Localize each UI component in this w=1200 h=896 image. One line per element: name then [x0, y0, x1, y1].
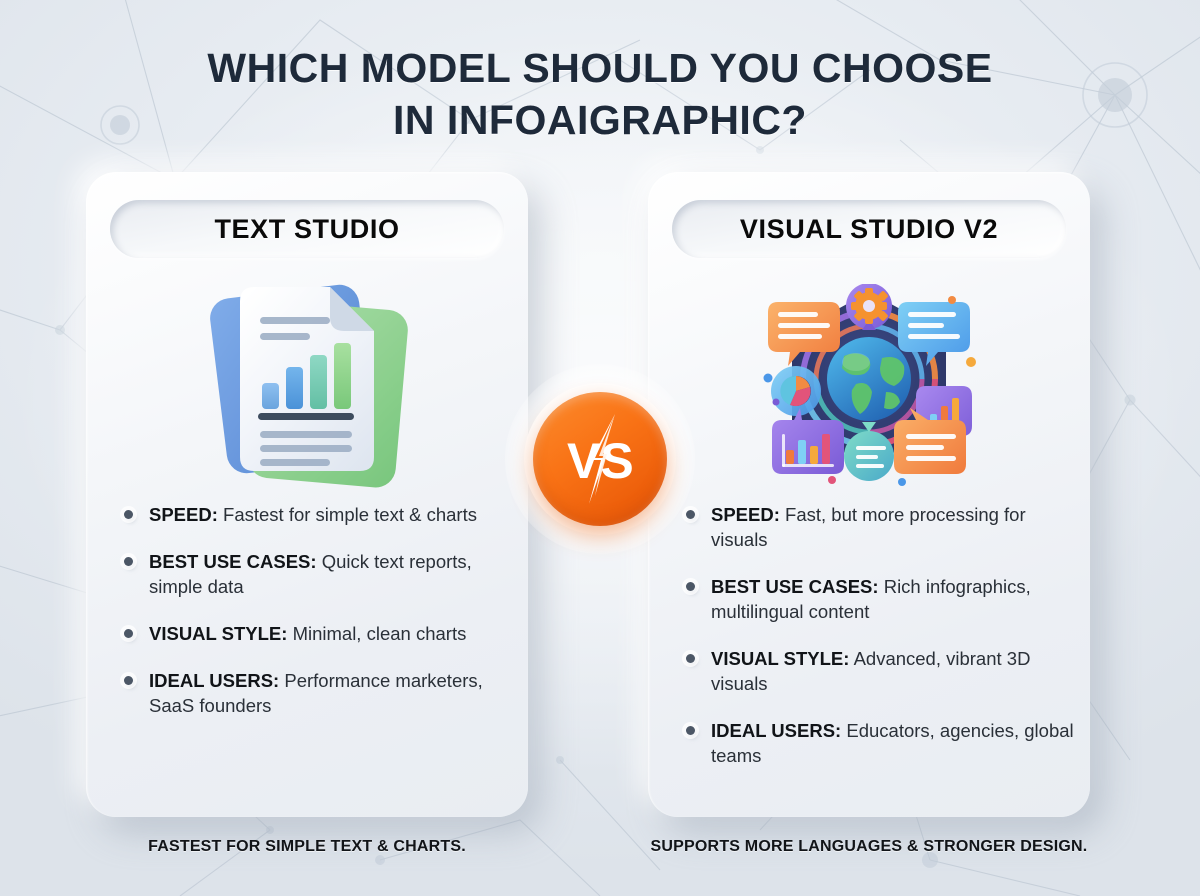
bullet-dot-icon	[124, 676, 133, 685]
document-bar-chart-icon	[86, 276, 528, 494]
bullet-text: Minimal, clean charts	[293, 623, 467, 644]
bullet-label: BEST USE CASES:	[711, 576, 879, 597]
card-header-text-studio: TEXT STUDIO	[110, 200, 504, 258]
bullet-dot-icon	[686, 654, 695, 663]
feature-list-text-studio: SPEED: Fastest for simple text & charts …	[122, 502, 512, 718]
infographic-page: WHICH MODEL SHOULD YOU CHOOSE IN INFOAIG…	[0, 0, 1200, 896]
bullet-dot-icon	[686, 510, 695, 519]
feature-list-visual-studio-v2: SPEED: Fast, but more processing for vis…	[684, 502, 1074, 768]
card-title-text-studio: TEXT STUDIO	[214, 214, 399, 245]
bullet-label: IDEAL USERS:	[711, 720, 841, 741]
bullet-label: SPEED:	[711, 504, 780, 525]
bullet-text: Fastest for simple text & charts	[223, 504, 477, 525]
list-item: VISUAL STYLE: Advanced, vibrant 3D visua…	[684, 646, 1074, 696]
list-item: VISUAL STYLE: Minimal, clean charts	[122, 621, 512, 646]
bullet-dot-icon	[124, 510, 133, 519]
bullet-dot-icon	[124, 557, 133, 566]
vs-lightning-icon: VS	[545, 404, 655, 514]
bullet-label: VISUAL STYLE:	[711, 648, 849, 669]
bullet-label: VISUAL STYLE:	[149, 623, 287, 644]
vs-badge-circle: VS	[533, 392, 667, 526]
vs-badge: VS	[527, 386, 673, 532]
list-item: BEST USE CASES: Rich infographics, multi…	[684, 574, 1074, 624]
footer-caption-visual-studio-v2: SUPPORTS MORE LANGUAGES & STRONGER DESIG…	[648, 838, 1090, 856]
list-item: SPEED: Fastest for simple text & charts	[122, 502, 512, 527]
svg-text:VS: VS	[567, 433, 634, 489]
bullet-dot-icon	[686, 726, 695, 735]
comparison-card-visual-studio-v2[interactable]: VISUAL STUDIO V2	[648, 172, 1090, 817]
bullet-dot-icon	[686, 582, 695, 591]
card-title-visual-studio-v2: VISUAL STUDIO V2	[740, 214, 998, 245]
bullet-label: BEST USE CASES:	[149, 551, 317, 572]
page-title: WHICH MODEL SHOULD YOU CHOOSE IN INFOAIG…	[0, 42, 1200, 146]
list-item: BEST USE CASES: Quick text reports, simp…	[122, 549, 512, 599]
title-line-1: WHICH MODEL SHOULD YOU CHOOSE	[0, 42, 1200, 94]
footer-caption-text-studio: FASTEST FOR SIMPLE TEXT & CHARTS.	[86, 838, 528, 856]
global-infographic-icon	[648, 276, 1090, 494]
comparison-card-text-studio[interactable]: TEXT STUDIO	[86, 172, 528, 817]
list-item: IDEAL USERS: Educators, agencies, global…	[684, 718, 1074, 768]
title-line-2: IN INFOAIGRAPHIC?	[0, 94, 1200, 146]
list-item: IDEAL USERS: Performance marketers, SaaS…	[122, 668, 512, 718]
bullet-label: SPEED:	[149, 504, 218, 525]
card-header-visual-studio-v2: VISUAL STUDIO V2	[672, 200, 1066, 258]
bullet-dot-icon	[124, 629, 133, 638]
bullet-label: IDEAL USERS:	[149, 670, 279, 691]
list-item: SPEED: Fast, but more processing for vis…	[684, 502, 1074, 552]
